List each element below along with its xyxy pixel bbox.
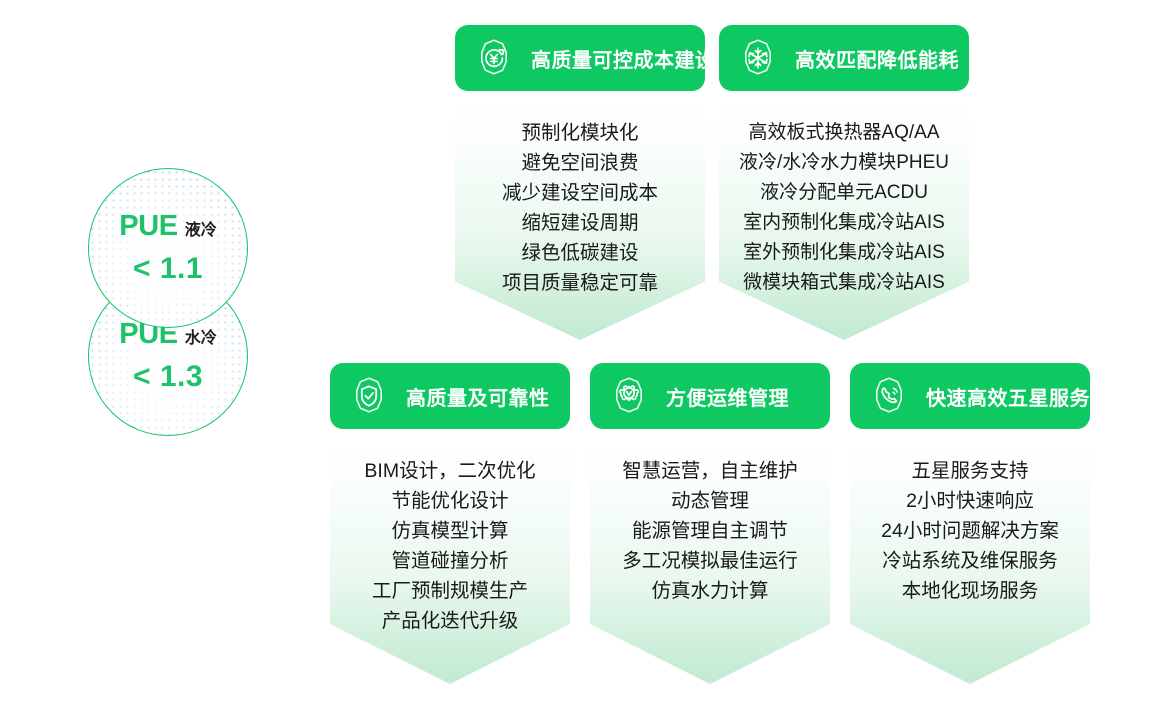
pue-metrics-group: PUE 液冷 < 1.1 PUE 水冷 < 1.3 [88, 168, 258, 438]
pue-mode-label: 水冷 [185, 324, 217, 348]
card-item: 减少建设空间成本 [502, 178, 658, 208]
pue-value: < 1.3 [133, 360, 203, 394]
card-body-energy: 高效板式换热器AQ/AA 液冷/水冷水力模块PHEU 液冷分配单元ACDU 室内… [719, 96, 969, 340]
card-service-support: 快速高效五星服务 五星服务支持 2小时快速响应 24小时问题解决方案 冷站系统及… [850, 363, 1090, 684]
card-item: 仿真水力计算 [651, 576, 768, 606]
pue-abbr: PUE [119, 210, 177, 243]
card-header-service: 快速高效五星服务 [850, 363, 1090, 429]
pue-value: < 1.1 [133, 252, 203, 286]
shield-check-icon [347, 374, 391, 418]
card-energy-efficiency: 高效匹配降低能耗 高效板式换热器AQ/AA 液冷/水冷水力模块PHEU 液冷分配… [719, 25, 969, 340]
pue-label-row: PUE 液冷 [119, 210, 216, 243]
card-item: 节能优化设计 [391, 486, 508, 516]
card-header-energy: 高效匹配降低能耗 [719, 25, 969, 91]
card-item: BIM设计，二次优化 [364, 456, 535, 486]
card-body-quality: BIM设计，二次优化 节能优化设计 仿真模型计算 管道碰撞分析 工厂预制规模生产… [330, 434, 570, 684]
card-body-cost: 预制化模块化 避免空间浪费 减少建设空间成本 缩短建设周期 绿色低碳建设 项目质… [455, 96, 705, 340]
card-title-ops: 方便运维管理 [666, 382, 789, 411]
card-title-energy: 高效匹配降低能耗 [795, 44, 959, 73]
card-item: 2小时快速响应 [906, 486, 1034, 516]
card-item: 液冷/水冷水力模块PHEU [739, 148, 949, 178]
card-title-service: 快速高效五星服务 [926, 382, 1090, 411]
card-item: 绿色低碳建设 [521, 238, 638, 268]
gear-icon [607, 374, 651, 418]
card-item: 能源管理自主调节 [632, 516, 788, 546]
card-cost-control: 高质量可控成本建设 预制化模块化 避免空间浪费 减少建设空间成本 缩短建设周期 … [455, 25, 705, 340]
card-operations-management: 方便运维管理 智慧运营，自主维护 动态管理 能源管理自主调节 多工况模拟最佳运行… [590, 363, 830, 684]
card-item: 高效板式换热器AQ/AA [748, 118, 939, 148]
card-header-cost: 高质量可控成本建设 [455, 25, 705, 91]
card-item: 五星服务支持 [911, 456, 1028, 486]
card-item: 管道碰撞分析 [391, 546, 508, 576]
card-item: 项目质量稳定可靠 [502, 268, 658, 298]
card-item: 产品化迭代升级 [382, 606, 519, 636]
snowflake-icon [736, 36, 780, 80]
card-item: 本地化现场服务 [902, 576, 1039, 606]
card-item: 室内预制化集成冷站AIS [743, 208, 945, 238]
card-title-quality: 高质量及可靠性 [406, 382, 550, 411]
card-header-quality: 高质量及可靠性 [330, 363, 570, 429]
card-body-ops: 智慧运营，自主维护 动态管理 能源管理自主调节 多工况模拟最佳运行 仿真水力计算 [590, 434, 830, 684]
card-item: 缩短建设周期 [521, 208, 638, 238]
card-item: 避免空间浪费 [521, 148, 638, 178]
card-body-service: 五星服务支持 2小时快速响应 24小时问题解决方案 冷站系统及维保服务 本地化现… [850, 434, 1090, 684]
card-item: 预制化模块化 [521, 118, 638, 148]
card-item: 多工况模拟最佳运行 [622, 546, 798, 576]
card-item: 冷站系统及维保服务 [882, 546, 1058, 576]
phone-call-icon [867, 374, 911, 418]
card-item: 微模块箱式集成冷站AIS [743, 268, 945, 298]
card-quality-reliability: 高质量及可靠性 BIM设计，二次优化 节能优化设计 仿真模型计算 管道碰撞分析 … [330, 363, 570, 684]
pue-mode-label: 液冷 [185, 216, 217, 240]
card-item: 24小时问题解决方案 [881, 516, 1059, 546]
infographic-canvas: PUE 液冷 < 1.1 PUE 水冷 < 1.3 高质量 [0, 0, 1170, 704]
card-item: 动态管理 [671, 486, 749, 516]
pue-liquid-cooling-badge: PUE 液冷 < 1.1 [88, 168, 248, 328]
card-item: 仿真模型计算 [391, 516, 508, 546]
cost-control-icon [472, 36, 516, 80]
card-item: 液冷分配单元ACDU [760, 178, 928, 208]
card-item: 工厂预制规模生产 [372, 576, 528, 606]
card-item: 室外预制化集成冷站AIS [743, 238, 945, 268]
card-item: 智慧运营，自主维护 [622, 456, 798, 486]
card-title-cost: 高质量可控成本建设 [531, 44, 716, 73]
card-header-ops: 方便运维管理 [590, 363, 830, 429]
